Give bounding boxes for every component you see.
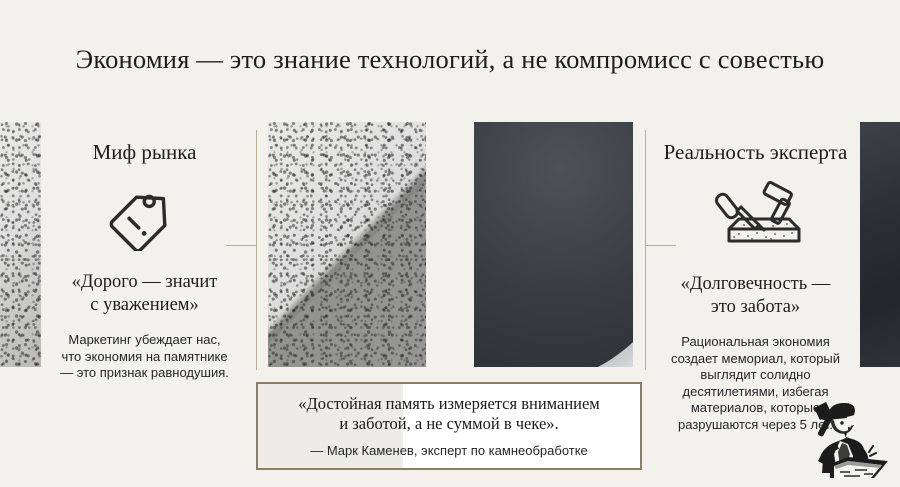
- column-myth-body: Маркетинг убеждает нас, что экономия на …: [42, 332, 247, 382]
- column-reality-body-line-1: Рациональная экономия: [653, 334, 858, 351]
- column-myth-body-line-1: Маркетинг убеждает нас,: [42, 332, 247, 349]
- column-reality-body-line-2: создает мемориал, который: [653, 351, 858, 368]
- quote-box-line-2: и заботой, а не суммой в чеке».: [298, 414, 600, 434]
- quote-box-line-1: «Достойная память измеряется вниманием: [298, 394, 600, 414]
- column-reality-heading: Реальность эксперта: [653, 140, 858, 165]
- photo-slate-edge-right: [860, 122, 900, 367]
- column-myth-body-line-3: — это признак равнодушия.: [42, 365, 247, 382]
- slide-root: Экономия — это знание технологий, а не к…: [0, 0, 900, 487]
- column-reality-quote: «Долговечность — это забота»: [653, 273, 858, 319]
- chisel-hammer-stone-icon: [653, 181, 858, 253]
- column-myth: Миф рынка «Дорого — значит с уважением» …: [42, 140, 247, 382]
- photo-granite-center: [268, 122, 426, 367]
- quote-box-text: «Достойная память измеряется вниманием и…: [298, 394, 600, 434]
- page-title: Экономия — это знание технологий, а не к…: [0, 44, 900, 75]
- price-tag-exclamation-icon: [42, 183, 247, 251]
- column-reality-body-line-3: выглядит солидно: [653, 367, 858, 384]
- photo-granite-edge-left: [0, 122, 41, 367]
- column-myth-body-line-2: что экономия на памятнике: [42, 349, 247, 366]
- divider-vertical-left: [256, 130, 257, 370]
- quote-box: «Достойная память измеряется вниманием и…: [256, 382, 642, 470]
- column-reality-quote-line-2: это забота»: [653, 296, 858, 319]
- quote-box-attribution: — Марк Каменев, эксперт по камнеобработк…: [310, 443, 588, 458]
- slate-disc-shape: [474, 122, 633, 367]
- column-myth-quote: «Дорого — значит с уважением»: [42, 271, 247, 317]
- column-myth-quote-line-1: «Дорого — значит: [42, 271, 247, 294]
- column-myth-heading: Миф рынка: [42, 140, 247, 165]
- column-reality-quote-line-1: «Долговечность —: [653, 273, 858, 296]
- photo-slate-disc-center: [474, 122, 633, 367]
- divider-vertical-right: [645, 130, 646, 370]
- stonemason-with-hammer-illustration: [800, 386, 896, 482]
- column-myth-quote-line-2: с уважением»: [42, 294, 247, 317]
